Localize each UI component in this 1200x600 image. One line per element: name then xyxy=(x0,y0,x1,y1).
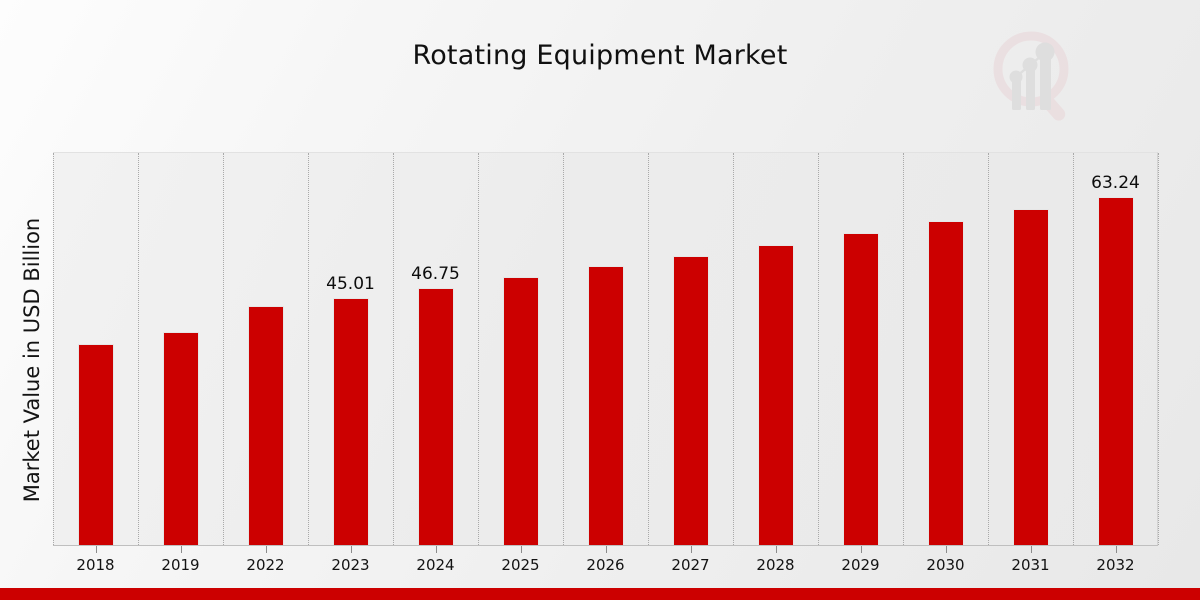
x-tick xyxy=(946,546,947,553)
bar-2025[interactable] xyxy=(503,277,539,545)
x-tick-label-2031: 2031 xyxy=(1011,556,1049,574)
x-tick-label-2032: 2032 xyxy=(1096,556,1134,574)
bar-2018[interactable] xyxy=(78,344,114,545)
x-tick-label-2028: 2028 xyxy=(756,556,794,574)
x-tick xyxy=(606,546,607,553)
chart-figure: Rotating Equipment Market Market Value i… xyxy=(0,0,1200,600)
x-tick-label-2026: 2026 xyxy=(586,556,624,574)
x-tick xyxy=(436,546,437,553)
x-tick xyxy=(96,546,97,553)
x-tick xyxy=(266,546,267,553)
gridline xyxy=(1158,153,1159,545)
x-tick xyxy=(1116,546,1117,553)
x-tick-label-2029: 2029 xyxy=(841,556,879,574)
x-tick-label-2018: 2018 xyxy=(76,556,114,574)
x-tick xyxy=(521,546,522,553)
x-tick xyxy=(776,546,777,553)
bars-layer xyxy=(53,153,1157,545)
x-tick-label-2030: 2030 xyxy=(926,556,964,574)
x-tick xyxy=(1031,546,1032,553)
bar-2026[interactable] xyxy=(588,266,624,545)
data-label-2024: 46.75 xyxy=(411,264,460,284)
plot-area xyxy=(53,152,1158,545)
x-tick xyxy=(861,546,862,553)
y-axis-label: Market Value in USD Billion xyxy=(20,160,44,560)
data-label-2032: 63.24 xyxy=(1091,173,1140,193)
market-research-magnifier-logo xyxy=(985,25,1085,125)
x-tick xyxy=(691,546,692,553)
x-tick-label-2019: 2019 xyxy=(161,556,199,574)
bar-2022[interactable] xyxy=(248,306,284,545)
data-label-2023: 45.01 xyxy=(326,274,375,294)
bar-2027[interactable] xyxy=(673,256,709,545)
bar-2031[interactable] xyxy=(1013,209,1049,545)
bar-2019[interactable] xyxy=(163,332,199,545)
bar-2023[interactable] xyxy=(333,298,369,545)
bar-2032[interactable] xyxy=(1098,197,1134,545)
x-tick xyxy=(181,546,182,553)
bottom-accent-bar xyxy=(0,588,1200,600)
x-tick-label-2023: 2023 xyxy=(331,556,369,574)
bar-2029[interactable] xyxy=(843,233,879,545)
bar-2024[interactable] xyxy=(418,288,454,545)
bar-2028[interactable] xyxy=(758,245,794,545)
x-tick xyxy=(351,546,352,553)
x-tick-label-2022: 2022 xyxy=(246,556,284,574)
bar-2030[interactable] xyxy=(928,221,964,545)
x-tick-label-2024: 2024 xyxy=(416,556,454,574)
x-tick-label-2027: 2027 xyxy=(671,556,709,574)
x-axis: 2018201920222023202420252026202720282029… xyxy=(53,545,1158,548)
x-tick-label-2025: 2025 xyxy=(501,556,539,574)
